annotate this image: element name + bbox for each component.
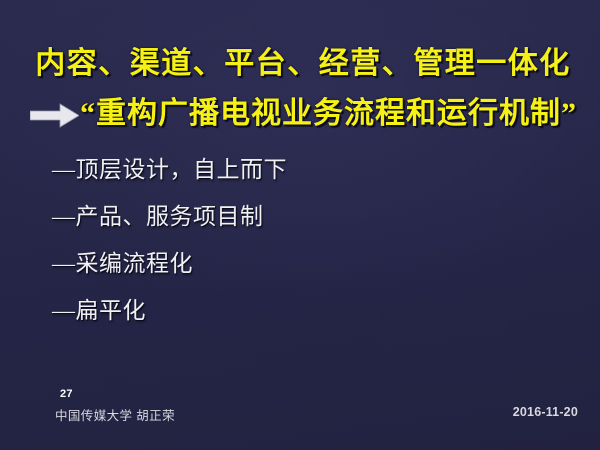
title-line-2-row: “重构广播电视业务流程和运行机制”	[0, 94, 600, 134]
title-line-2-text: “重构广播电视业务流程和运行机制”	[80, 94, 577, 134]
footer-credit: 中国传媒大学 胡正荣	[55, 405, 175, 424]
title-line-1: 内容、渠道、平台、经营、管理一体化	[0, 42, 600, 86]
page-number: 27	[60, 388, 73, 400]
list-item: —顶层设计，自上而下	[52, 156, 572, 203]
footer-date: 2016-11-20	[513, 405, 578, 419]
bullet-list: —顶层设计，自上而下 —产品、服务项目制 —采编流程化 —扁平化	[52, 156, 572, 344]
list-item: —产品、服务项目制	[52, 203, 572, 250]
list-item: —采编流程化	[52, 250, 572, 297]
slide-title-block: 内容、渠道、平台、经营、管理一体化 “重构广播电视业务流程和运行机制”	[0, 42, 600, 134]
presentation-slide: 内容、渠道、平台、经营、管理一体化 “重构广播电视业务流程和运行机制” —顶层设…	[0, 0, 600, 450]
slide-footer: 27 中国传媒大学 胡正荣 2016-11-20	[0, 384, 600, 450]
list-item: —扁平化	[52, 297, 572, 344]
right-block-arrow-icon	[30, 103, 79, 128]
